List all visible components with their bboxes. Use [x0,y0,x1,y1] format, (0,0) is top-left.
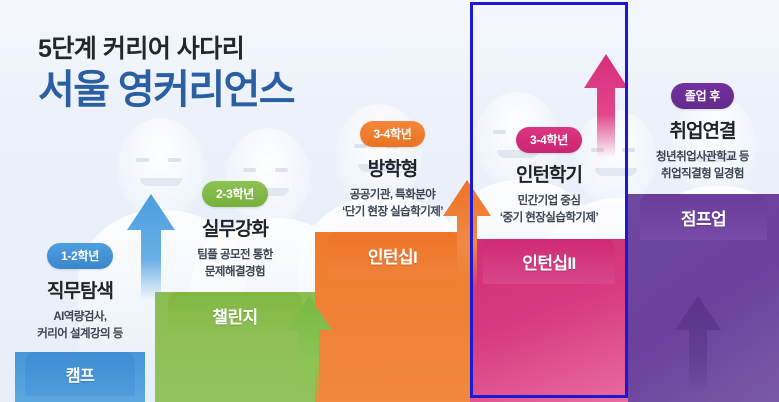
step3-bar-label-block[interactable]: 인턴십I [327,232,457,278]
step2-bar-label-block[interactable]: 챌린지 [168,292,302,339]
step4-bar-label: 인턴십II [522,249,575,274]
step4-bar-label-block[interactable]: 인턴십II [483,239,616,284]
step3-text-block: 3-4학년 방학형 공공기관, 특화분야 ‘단기 현장 실습학기제’ [310,121,475,220]
step5-heading: 취업연결 [626,116,779,143]
arrow-step5-icon [673,294,723,394]
step3-description: 공공기관, 특화분야 ‘단기 현장 실습학기제’ [310,187,475,220]
step5-bar-label: 점프업 [681,205,726,230]
step1-bar-label: 캠프 [66,362,94,386]
step1-heading: 직무탐색 [10,276,150,303]
step4-badge: 3-4학년 [516,127,582,153]
step3-bar-label: 인턴십I [368,243,417,268]
step3-badge: 3-4학년 [360,121,426,147]
step-column-5[interactable]: 점프업 [628,194,779,402]
step2-heading: 실무강화 [152,214,318,241]
step5-description: 청년취업사관학교 등 취업직결형 일경험 [626,149,779,182]
arrow-step2-icon [284,294,334,402]
step1-bar-label-block[interactable]: 캠프 [25,352,134,396]
infographic-canvas: 5단계 커리어 사다리 서울 영커리언스 캠프 1-2학년 직무탐색 AI역량검… [0,0,779,402]
step5-bar-label-block[interactable]: 점프업 [640,194,767,240]
step5-text-block: 졸업 후 취업연결 청년취업사관학교 등 취업직결형 일경험 [626,83,779,182]
step2-badge: 2-3학년 [202,181,268,207]
step2-text-block: 2-3학년 실무강화 팀플 공모전 통한 문제해결경험 [152,181,318,280]
step1-badge: 1-2학년 [47,243,113,269]
title-subtitle: 5단계 커리어 사다리 [38,36,294,64]
step-column-4[interactable]: 인턴십II [470,239,628,402]
step2-description: 팀플 공모전 통한 문제해결경험 [152,247,318,280]
step4-description: 민간기업 중심 ‘중기 현장실습학기제’ [466,193,632,226]
step5-badge: 졸업 후 [671,83,734,109]
title-main: 서울 영커리언스 [38,69,294,111]
page-title: 5단계 커리어 사다리 서울 영커리언스 [38,36,294,111]
step4-text-block: 3-4학년 인턴학기 민간기업 중심 ‘중기 현장실습학기제’ [466,127,632,226]
step-column-1[interactable]: 캠프 [15,352,145,402]
step1-text-block: 1-2학년 직무탐색 AI역량검사, 커리어 설계강의 등 [10,243,150,342]
step4-heading: 인턴학기 [466,160,632,187]
step3-heading: 방학형 [310,154,475,181]
step2-bar-label: 챌린지 [212,303,257,328]
step1-description: AI역량검사, 커리어 설계강의 등 [10,309,150,342]
